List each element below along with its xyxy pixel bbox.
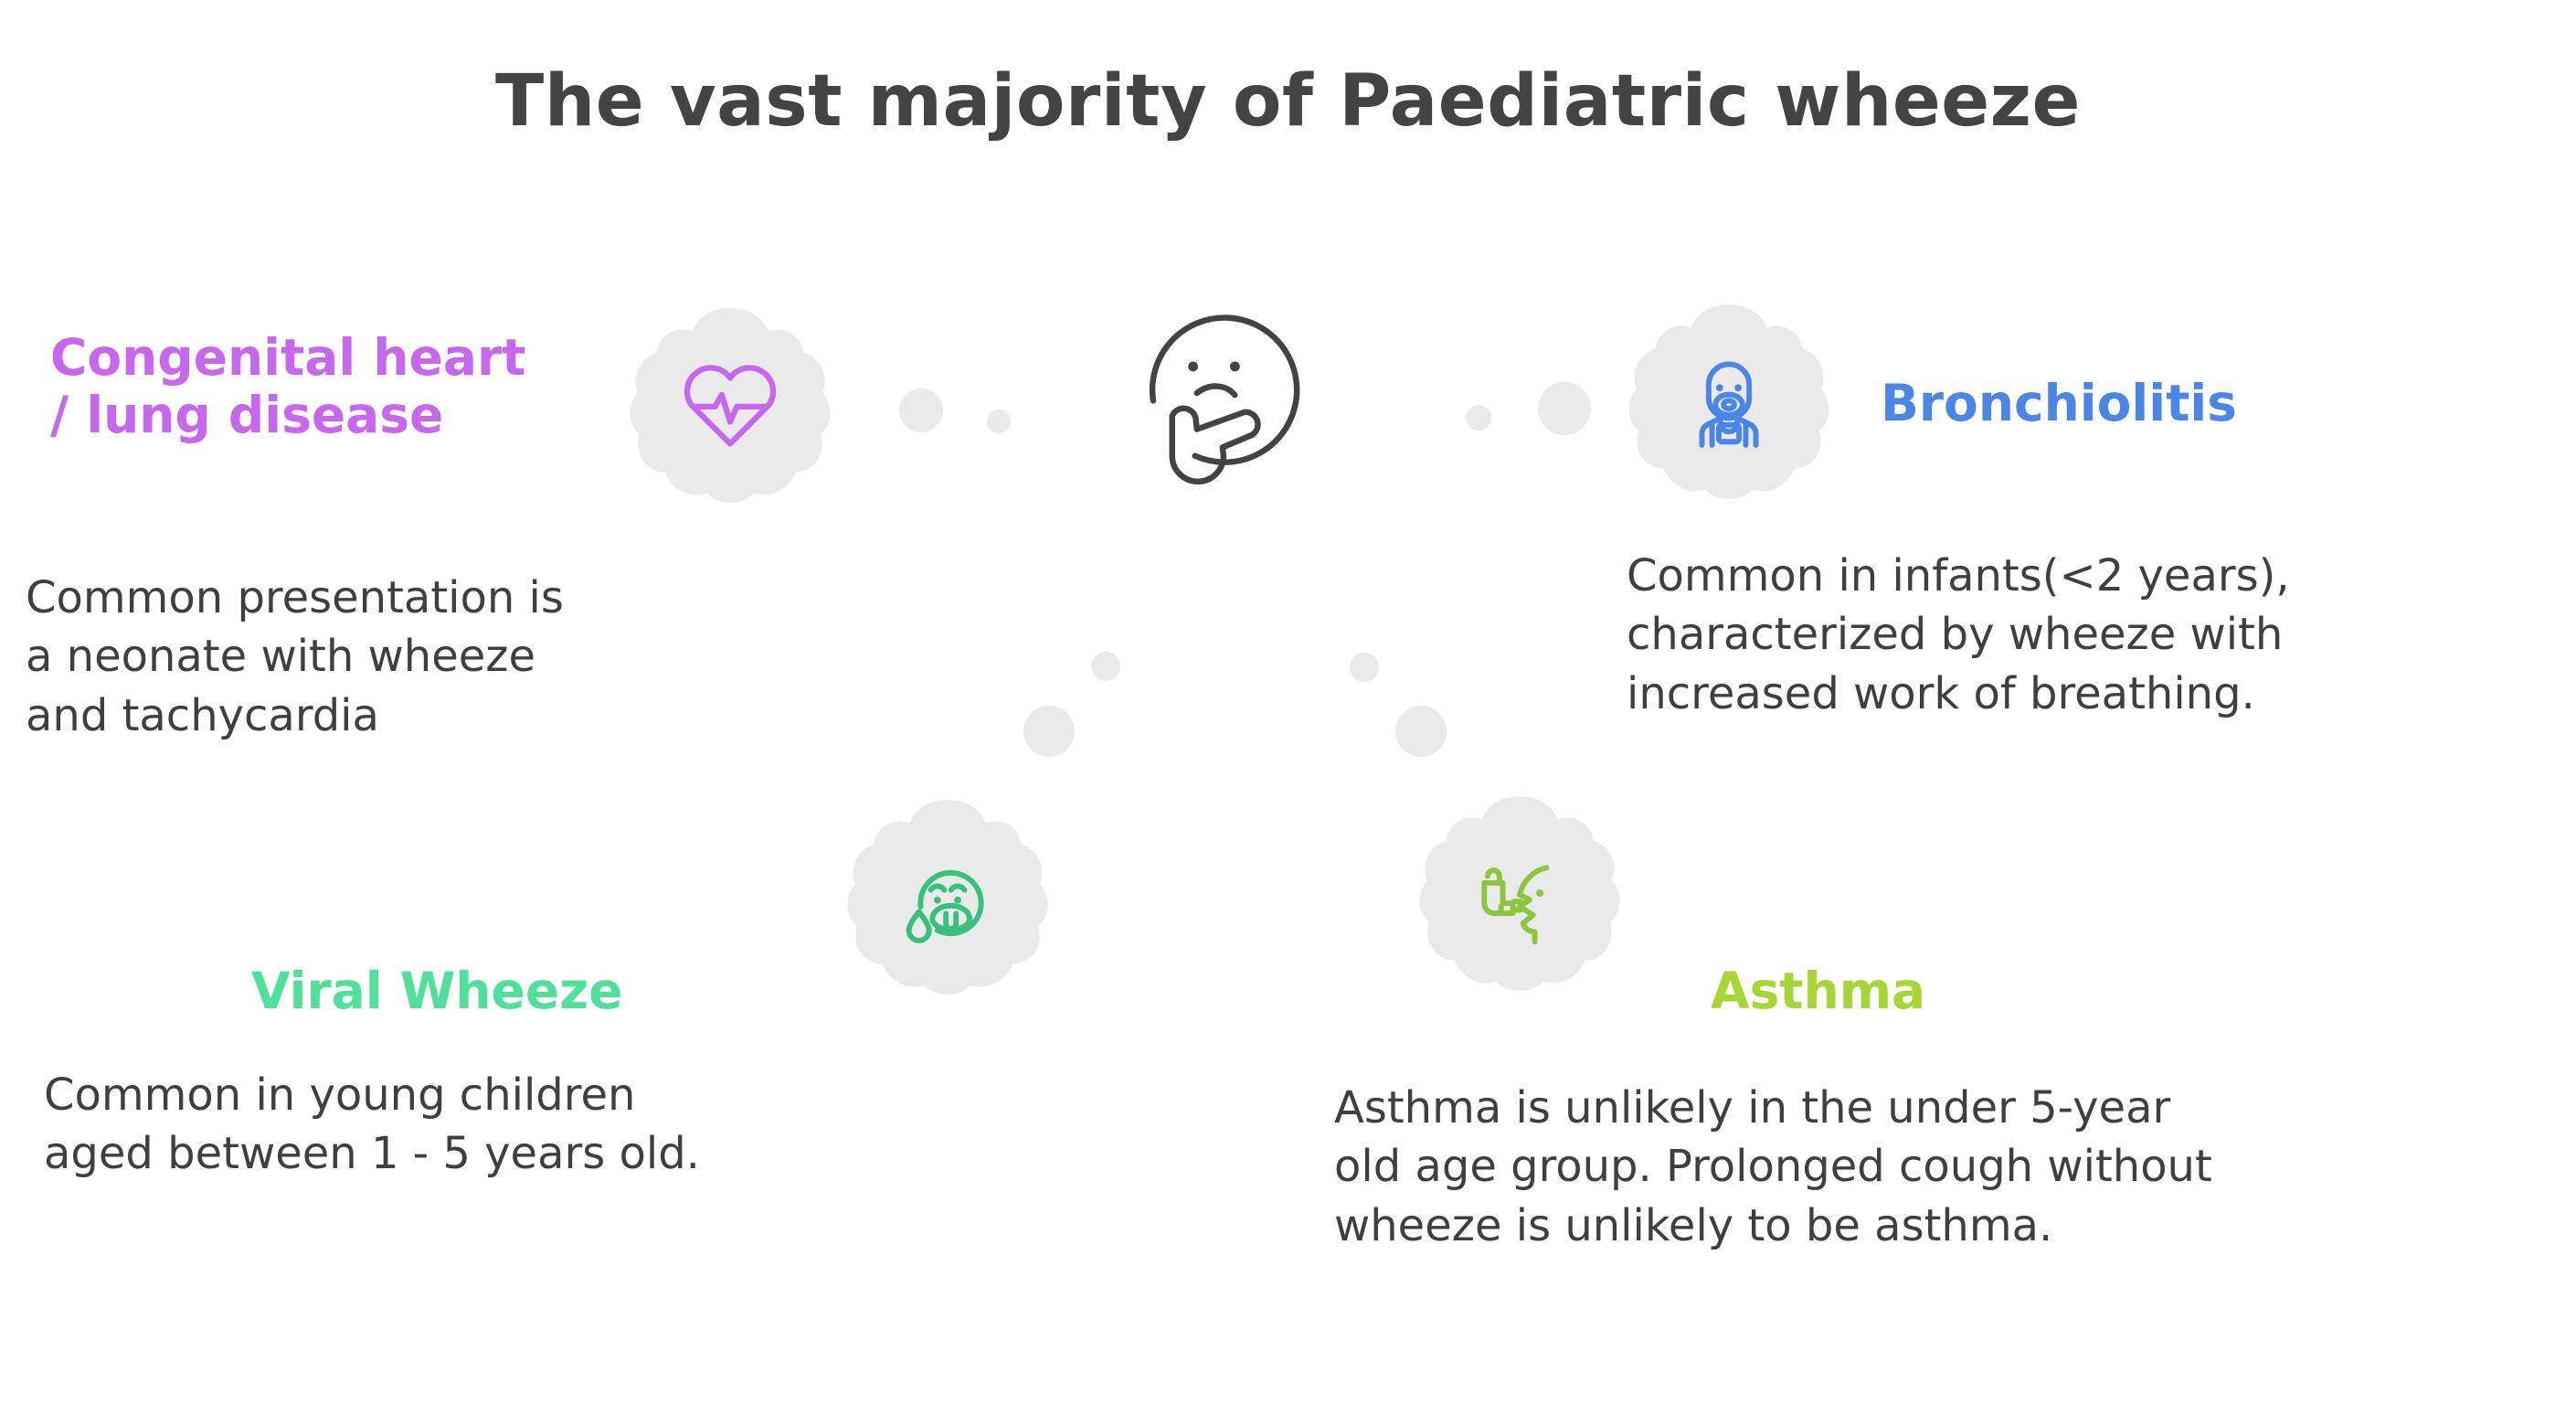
asthma-icon-blob	[1415, 788, 1625, 998]
decorative-dot	[1466, 405, 1491, 431]
decorative-dot	[1395, 706, 1447, 757]
decorative-dot	[987, 410, 1011, 433]
sick-face-icon-wrapper	[843, 792, 1053, 1002]
heart-pulse-icon-wrapper	[625, 300, 835, 510]
congenital-heart-icon-blob	[625, 300, 835, 510]
inhaler-face-icon	[1466, 839, 1574, 947]
page-title: The vast majority of Paediatric wheeze	[0, 60, 2576, 143]
inhaler-face-icon-wrapper	[1415, 788, 1625, 998]
body-bronchiolitis: Common in infants(<2 years), characteriz…	[1627, 547, 2568, 723]
decorative-dot	[899, 388, 943, 432]
heading-viral-wheeze: Viral Wheeze	[251, 963, 622, 1020]
body-congenital-heart-lung-disease: Common presentation is a neonate with wh…	[26, 569, 811, 745]
body-viral-wheeze: Common in young children aged between 1 …	[44, 1066, 958, 1184]
baby-pacifier-icon-wrapper	[1624, 296, 1834, 506]
decorative-dot	[1023, 706, 1075, 757]
body-asthma: Asthma is unlikely in the under 5-year o…	[1334, 1079, 2576, 1255]
heading-asthma: Asthma	[1711, 963, 1925, 1020]
decorative-dot	[1350, 653, 1379, 682]
decorative-dot	[1538, 382, 1591, 435]
sick-face-icon	[894, 843, 1002, 951]
thinking-face-icon	[1130, 296, 1320, 486]
thinking-face-icon-wrapper	[1130, 296, 1320, 486]
bronchiolitis-icon-blob	[1624, 296, 1834, 506]
decorative-dot	[1091, 652, 1120, 681]
infographic-canvas: The vast majority of Paediatric wheeze C…	[0, 0, 2576, 1415]
heart-pulse-icon	[676, 351, 784, 459]
heading-bronchiolitis: Bronchiolitis	[1881, 375, 2237, 432]
viral-wheeze-icon-blob	[843, 792, 1053, 1002]
heading-congenital-heart-lung-disease: Congenital heart / lung disease	[50, 329, 525, 445]
baby-pacifier-icon	[1675, 347, 1783, 455]
